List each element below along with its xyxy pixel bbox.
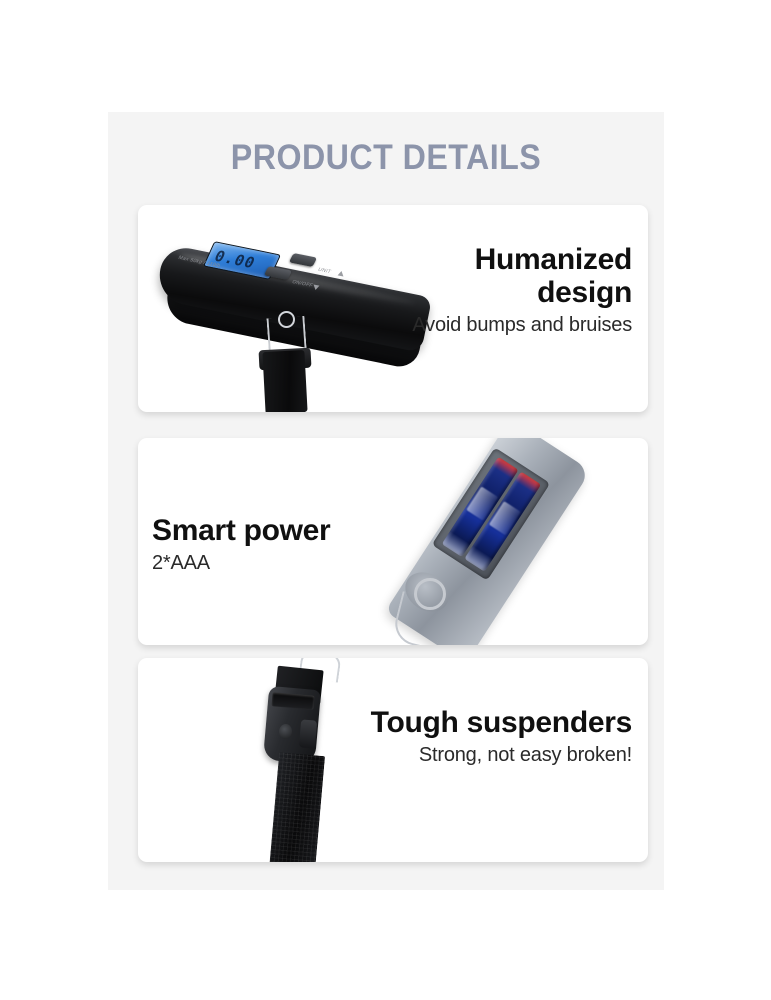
card-subline: Avoid bumps and bruises xyxy=(372,313,632,337)
unit-button[interactable] xyxy=(289,253,317,267)
card-headline: Humanized design xyxy=(372,243,632,309)
card-headline: Smart power xyxy=(152,514,422,547)
triangle-down-icon xyxy=(313,284,320,290)
strap-band xyxy=(262,350,307,412)
card-text-tough-suspenders: Tough suspenders Strong, not easy broken… xyxy=(362,706,632,767)
feature-card-tough-suspenders: Tough suspenders Strong, not easy broken… xyxy=(138,658,648,862)
card-text-humanized-design: Humanized design Avoid bumps and bruises xyxy=(372,243,632,337)
feature-card-humanized-design: 0.00 Max 50kg / 110lb UNIT ON/OFF Humani… xyxy=(138,205,648,412)
triangle-up-icon xyxy=(338,270,345,276)
product-details-panel: PRODUCT DETAILS 0.00 Max 50kg / 110lb UN… xyxy=(108,112,664,890)
feature-card-smart-power: Smart power 2*AAA xyxy=(138,438,648,645)
card-subline: Strong, not easy broken! xyxy=(362,743,632,767)
battery-compartment-image xyxy=(388,438,648,645)
buckle-release-tab xyxy=(299,719,317,748)
strap-band xyxy=(269,752,325,862)
card-subline: 2*AAA xyxy=(152,551,422,575)
card-headline: Tough suspenders xyxy=(362,706,632,739)
page-title: PRODUCT DETAILS xyxy=(130,138,642,178)
card-text-smart-power: Smart power 2*AAA xyxy=(152,514,422,575)
